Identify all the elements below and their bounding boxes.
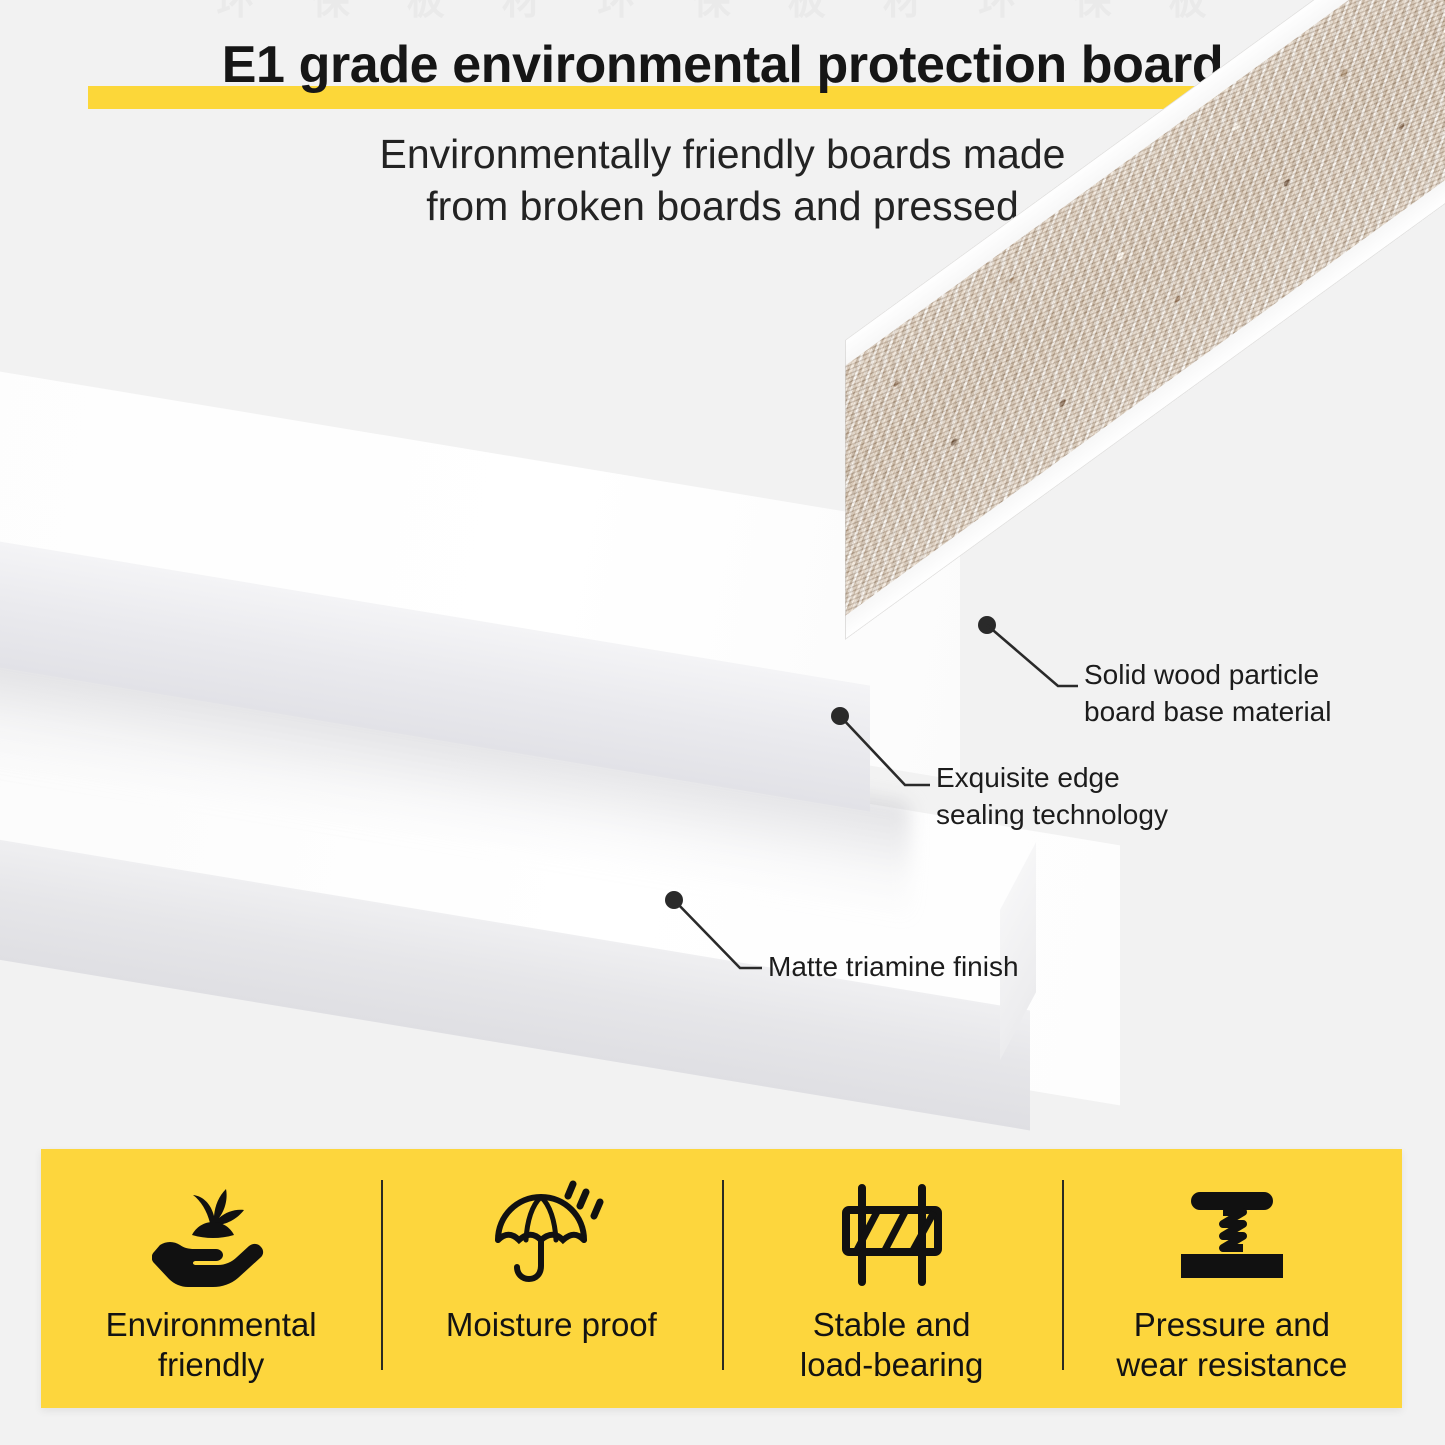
callout-1-line-1: Solid wood particle [1084, 656, 1331, 693]
feature-1-line-1: Environmental [106, 1305, 317, 1345]
feature-3-label: Stable and load-bearing [800, 1305, 983, 1385]
feature-pressure-wear-resistance: Pressure and wear resistance [1062, 1149, 1402, 1408]
feature-stable-load-bearing: Stable and load-bearing [722, 1149, 1062, 1408]
callout-3-line-1: Matte triamine finish [768, 948, 1019, 985]
callout-2-line-2: sealing technology [936, 796, 1168, 833]
callout-label-solid-wood-particle-board: Solid wood particle board base material [1084, 656, 1331, 730]
feature-3-line-2: load-bearing [800, 1345, 983, 1385]
umbrella-rain-icon [490, 1179, 612, 1291]
feature-4-line-1: Pressure and [1116, 1305, 1347, 1345]
feature-4-line-2: wear resistance [1116, 1345, 1347, 1385]
barricade-icon [840, 1179, 944, 1291]
subtitle-line-1: Environmentally friendly boards made [380, 131, 1066, 177]
callout-label-matte-triamine-finish: Matte triamine finish [768, 948, 1019, 985]
callout-1-line-2: board base material [1084, 693, 1331, 730]
feature-2-line-1: Moisture proof [446, 1305, 657, 1345]
feature-moisture-proof: Moisture proof [381, 1149, 721, 1408]
press-compression-icon [1173, 1179, 1291, 1291]
feature-1-label: Environmental friendly [106, 1305, 317, 1385]
feature-1-line-2: friendly [106, 1345, 317, 1385]
hand-plant-icon [152, 1179, 270, 1291]
feature-2-label: Moisture proof [446, 1305, 657, 1345]
feature-3-line-1: Stable and [800, 1305, 983, 1345]
infographic-canvas: 环 保 板 材 环 保 板 材 环 保 板 E1 grade environme… [0, 0, 1445, 1445]
feature-4-label: Pressure and wear resistance [1116, 1305, 1347, 1385]
callout-label-exquisite-edge-sealing: Exquisite edge sealing technology [936, 759, 1168, 833]
feature-environmental-friendly: Environmental friendly [41, 1149, 381, 1408]
callout-2-line-1: Exquisite edge [936, 759, 1168, 796]
feature-bar: Environmental friendly Moisture proof [41, 1149, 1402, 1408]
